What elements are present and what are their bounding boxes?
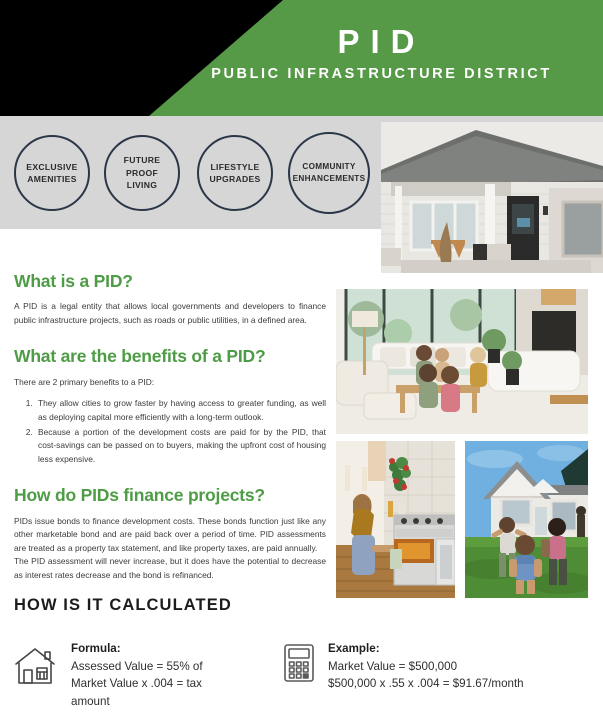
badge-line: LIFESTYLE	[208, 161, 261, 173]
infographic-page: PID PUBLIC INFRASTRUCTURE DISTRICT EXCLU…	[0, 0, 603, 721]
paragraph-benefits-intro: There are 2 primary benefits to a PID:	[14, 376, 326, 390]
example-line-1: Market Value = $500,000	[328, 658, 524, 676]
benefits-list: They allow cities to grow faster by havi…	[14, 397, 326, 466]
badge-line: UPGRADES	[208, 173, 261, 185]
heading-how-finance: How do PIDs finance projects?	[14, 486, 326, 505]
list-item: They allow cities to grow faster by havi…	[35, 397, 326, 424]
kitchen-illustration	[336, 441, 455, 598]
living-room-family-photo	[336, 289, 588, 434]
badge-line: LIVING	[123, 179, 162, 191]
badge-future-proof-living: FUTURE PROOF LIVING	[104, 135, 180, 211]
formula-text: Formula: Assessed Value = 55% of Market …	[71, 640, 221, 710]
header-green-wedge	[0, 0, 603, 116]
formula-line-3: amount	[71, 693, 221, 711]
badge-line: AMENITIES	[25, 173, 78, 185]
formula-line-1: Assessed Value = 55% of	[71, 658, 221, 676]
hero-house-exterior-photo	[381, 122, 603, 273]
house-icon	[14, 646, 58, 691]
badge-exclusive-amenities: EXCLUSIVE AMENITIES	[14, 135, 90, 211]
children-yard-photo	[465, 441, 588, 598]
children-yard-illustration	[465, 441, 588, 598]
badge-line: COMMUNITY	[292, 161, 367, 173]
header-banner: PID PUBLIC INFRASTRUCTURE DISTRICT	[0, 0, 603, 116]
badge-line: EXCLUSIVE	[25, 161, 78, 173]
example-label: Example:	[328, 640, 524, 658]
example-text: Example: Market Value = $500,000 $500,00…	[328, 640, 524, 693]
example-block: Example: Market Value = $500,000 $500,00…	[283, 640, 524, 693]
heading-what-is-a-pid: What is a PID?	[14, 272, 326, 291]
calculator-icon	[283, 643, 315, 688]
formula-line-2: Market Value x .004 = tax	[71, 675, 221, 693]
paragraph-what-is-a-pid: A PID is a legal entity that allows loca…	[14, 300, 326, 327]
living-room-illustration	[336, 289, 588, 434]
paragraph-finance-1: PIDs issue bonds to finance development …	[14, 515, 326, 556]
badge-line: ENHANCEMENTS	[292, 173, 367, 185]
badge-line: PROOF	[123, 167, 162, 179]
formula-label: Formula:	[71, 640, 221, 658]
page-title: PID	[0, 25, 603, 58]
page-subtitle: PUBLIC INFRASTRUCTURE DISTRICT	[0, 67, 603, 82]
paragraph-finance-2: The PID assessment will never increase, …	[14, 555, 326, 582]
badge-line: FUTURE	[123, 154, 162, 166]
example-line-2: $500,000 x .55 x .004 = $91.67/month	[328, 675, 524, 693]
badge-community-enhancements: COMMUNITY ENHANCEMENTS	[288, 132, 370, 214]
badge-lifestyle-upgrades: LIFESTYLE UPGRADES	[197, 135, 273, 211]
formula-block: Formula: Assessed Value = 55% of Market …	[14, 640, 221, 710]
content-column: What is a PID? A PID is a legal entity t…	[14, 272, 326, 583]
heading-how-is-it-calculated: HOW IS IT CALCULATED	[14, 597, 232, 614]
heading-benefits: What are the benefits of a PID?	[14, 347, 326, 366]
house-exterior-illustration	[381, 122, 603, 273]
list-item: Because a portion of the development cos…	[35, 426, 326, 467]
kitchen-oven-photo	[336, 441, 455, 598]
